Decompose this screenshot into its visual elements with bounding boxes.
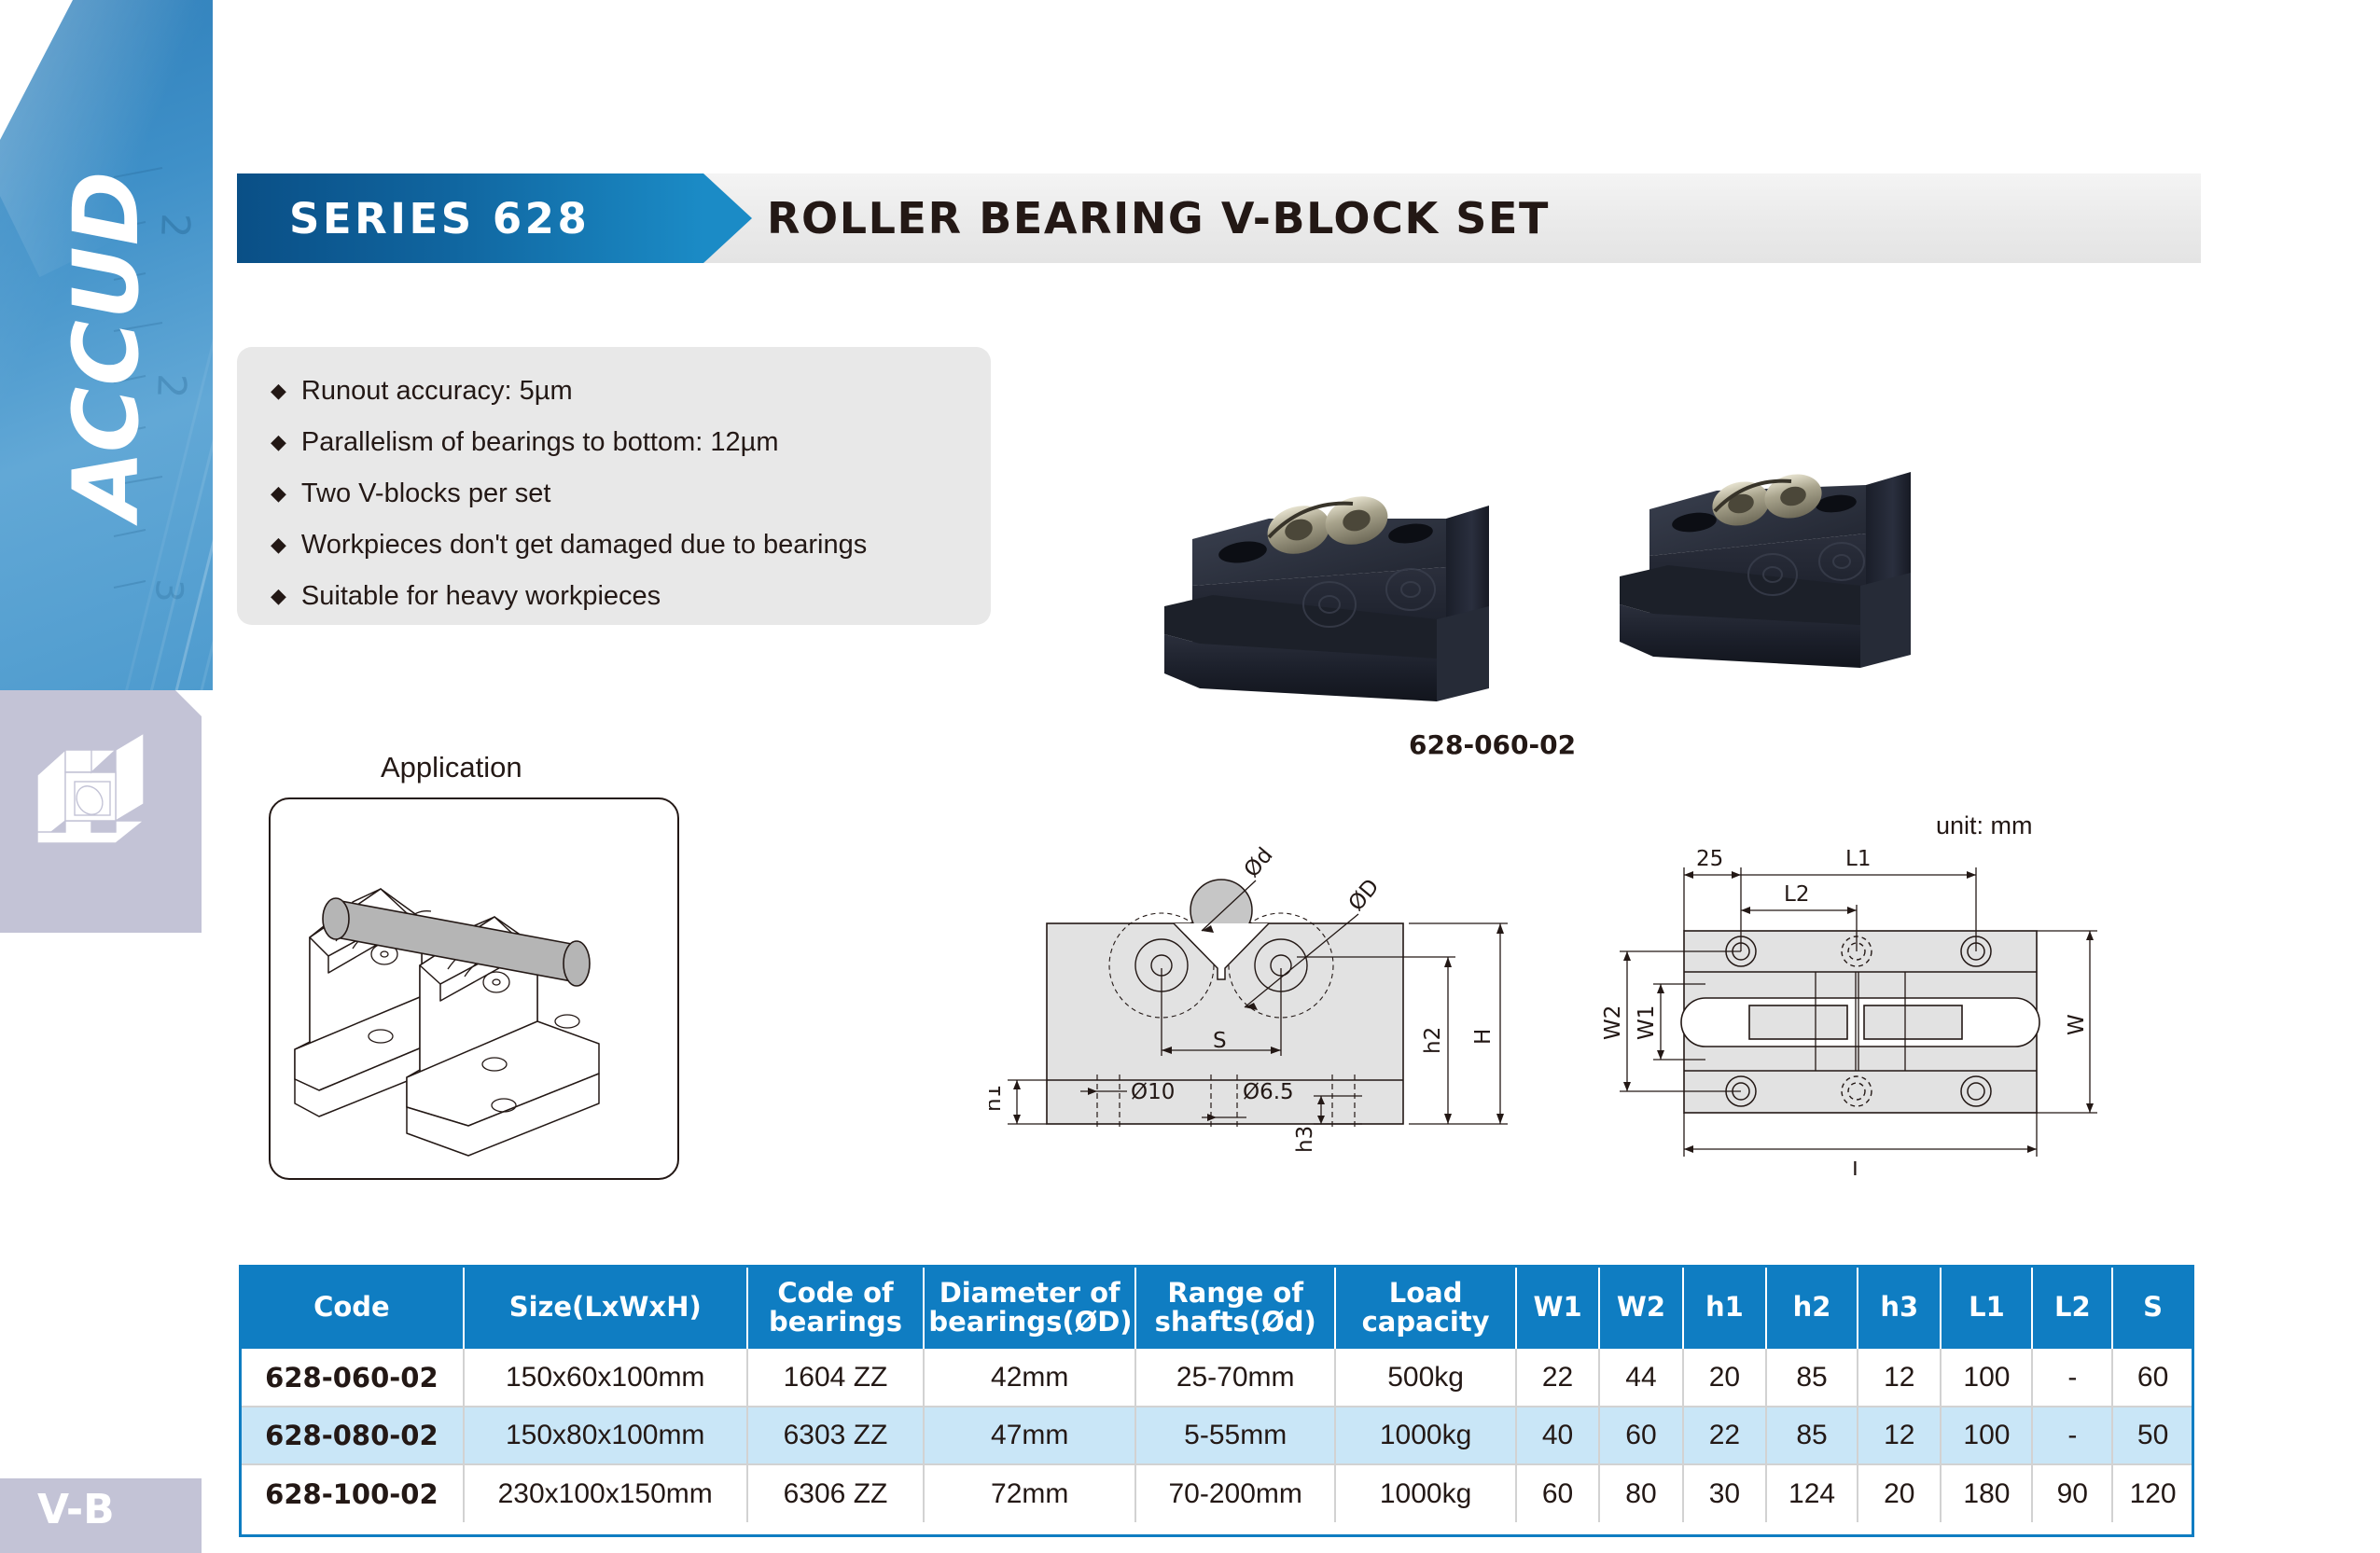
sidebar-category-panel [0, 690, 202, 933]
col-header-h2: h2 [1766, 1267, 1858, 1349]
svg-text:Ø6.5: Ø6.5 [1243, 1080, 1294, 1104]
cell-code: 628-060-02 [241, 1349, 464, 1407]
cell-s: 120 [2112, 1464, 2192, 1522]
svg-text:S: S [1213, 1029, 1227, 1053]
cell-s: 60 [2112, 1349, 2192, 1407]
page-title: ROLLER BEARING V-BLOCK SET [767, 173, 1550, 263]
cell-bearing-code: 6303 ZZ [747, 1407, 925, 1464]
application-illustration-box [269, 797, 679, 1180]
cell-bearing-diameter: 72mm [924, 1464, 1135, 1522]
sidebar-footer-label: V-B [37, 1486, 115, 1533]
col-header-h1: h1 [1683, 1267, 1766, 1349]
feature-item: ◆ Runout accuracy: 5µm [271, 375, 991, 407]
svg-text:H: H [1471, 1029, 1496, 1045]
feature-item: ◆ Two V-blocks per set [271, 478, 991, 509]
product-photo-illustration [1157, 336, 2202, 728]
cell-w1: 22 [1516, 1349, 1599, 1407]
cell-l2: - [2032, 1407, 2112, 1464]
cell-shaft-range: 5-55mm [1135, 1407, 1335, 1464]
col-header-code: Code [241, 1267, 464, 1349]
svg-text:L1: L1 [1845, 847, 1871, 871]
cell-l1: 100 [1941, 1349, 2032, 1407]
feature-item: ◆ Parallelism of bearings to bottom: 12µ… [271, 426, 991, 458]
col-header-w1: W1 [1516, 1267, 1599, 1349]
diamond-bullet-icon: ◆ [271, 426, 286, 458]
cell-w1: 60 [1516, 1464, 1599, 1522]
front-view-drawing: S H h2 h1 h3 Ø10 Ø6.5 Ød ØD [989, 821, 1567, 1194]
feature-text: Suitable for heavy workpieces [301, 580, 661, 612]
series-badge: SERIES 628 [237, 173, 703, 263]
svg-text:h1: h1 [989, 1085, 1006, 1112]
diamond-bullet-icon: ◆ [271, 529, 286, 561]
cell-s: 50 [2112, 1407, 2192, 1464]
col-header-s: S [2112, 1267, 2192, 1349]
cell-load-capacity: 500kg [1335, 1349, 1516, 1407]
unit-note: unit: mm [1936, 811, 2033, 840]
cell-l1: 180 [1941, 1464, 2032, 1522]
svg-text:L2: L2 [1784, 882, 1809, 907]
brand-name: ACCUD [54, 171, 159, 520]
cell-load-capacity: 1000kg [1335, 1464, 1516, 1522]
cell-code: 628-080-02 [241, 1407, 464, 1464]
cell-bearing-code: 6306 ZZ [747, 1464, 925, 1522]
cell-h3: 20 [1858, 1464, 1941, 1522]
table-row: 628-080-02 150x80x100mm 6303 ZZ 47mm 5-5… [241, 1407, 2192, 1464]
cell-code: 628-100-02 [241, 1464, 464, 1522]
cell-h1: 22 [1683, 1407, 1766, 1464]
svg-text:W: W [2065, 1014, 2089, 1035]
cell-load-capacity: 1000kg [1335, 1407, 1516, 1464]
col-header-shaft-range: Range of shafts(Ød) [1135, 1267, 1335, 1349]
feature-text: Workpieces don't get damaged due to bear… [301, 529, 867, 561]
col-header-load-capacity: Load capacity [1335, 1267, 1516, 1349]
specifications-table: Code Size(LxWxH) Code of bearings Diamet… [241, 1267, 2192, 1522]
cell-shaft-range: 70-200mm [1135, 1464, 1335, 1522]
feature-text: Runout accuracy: 5µm [301, 375, 573, 407]
cell-bearing-diameter: 47mm [924, 1407, 1135, 1464]
cell-size: 230x100x150mm [464, 1464, 747, 1522]
cell-w2: 44 [1599, 1349, 1682, 1407]
svg-text:Ød: Ød [1240, 843, 1278, 882]
diamond-bullet-icon: ◆ [271, 478, 286, 509]
feature-text: Two V-blocks per set [301, 478, 551, 509]
left-sidebar: 2 2 3 ACCUD V-B [0, 0, 213, 1553]
diamond-bullet-icon: ◆ [271, 580, 286, 612]
col-header-w2: W2 [1599, 1267, 1682, 1349]
page-header: SERIES 628 ROLLER BEARING V-BLOCK SET [237, 173, 2201, 263]
table-header-row: Code Size(LxWxH) Code of bearings Diamet… [241, 1267, 2192, 1349]
svg-text:25: 25 [1696, 847, 1723, 871]
svg-text:h2: h2 [1421, 1027, 1445, 1054]
svg-text:ØD: ØD [1344, 875, 1385, 916]
cell-h3: 12 [1858, 1349, 1941, 1407]
product-photo-caption: 628-060-02 [1409, 729, 1576, 760]
feature-text: Parallelism of bearings to bottom: 12µm [301, 426, 779, 458]
cell-h2: 85 [1766, 1349, 1858, 1407]
application-illustration [271, 799, 677, 1178]
diamond-bullet-icon: ◆ [271, 375, 286, 407]
feature-item: ◆ Workpieces don't get damaged due to be… [271, 529, 991, 561]
col-header-l2: L2 [2032, 1267, 2112, 1349]
cell-h2: 124 [1766, 1464, 1858, 1522]
application-label: Application [381, 751, 522, 784]
svg-text:W2: W2 [1601, 1005, 1625, 1040]
v-block-icon [26, 724, 166, 864]
table-row: 628-060-02 150x60x100mm 1604 ZZ 42mm 25-… [241, 1349, 2192, 1407]
feature-item: ◆ Suitable for heavy workpieces [271, 580, 991, 612]
cell-bearing-code: 1604 ZZ [747, 1349, 925, 1407]
col-header-bearing-code: Code of bearings [747, 1267, 925, 1349]
cell-bearing-diameter: 42mm [924, 1349, 1135, 1407]
col-header-l1: L1 [1941, 1267, 2032, 1349]
cell-h2: 85 [1766, 1407, 1858, 1464]
cell-shaft-range: 25-70mm [1135, 1349, 1335, 1407]
cell-l1: 100 [1941, 1407, 2032, 1464]
svg-text:L: L [1852, 1158, 1864, 1175]
cell-size: 150x60x100mm [464, 1349, 747, 1407]
cell-w1: 40 [1516, 1407, 1599, 1464]
cell-l2: - [2032, 1349, 2112, 1407]
cell-w2: 80 [1599, 1464, 1682, 1522]
cell-h3: 12 [1858, 1407, 1941, 1464]
col-header-h3: h3 [1858, 1267, 1941, 1349]
sidebar-corner-cut [0, 0, 73, 140]
features-panel: ◆ Runout accuracy: 5µm ◆ Parallelism of … [237, 347, 991, 625]
cell-h1: 20 [1683, 1349, 1766, 1407]
svg-text:W1: W1 [1635, 1005, 1659, 1040]
table-row: 628-100-02 230x100x150mm 6306 ZZ 72mm 70… [241, 1464, 2192, 1522]
top-view-drawing: 25 L1 L2 W L W2 W1 [1586, 839, 2146, 1175]
col-header-bearing-diameter: Diameter of bearings(ØD) [924, 1267, 1135, 1349]
sidebar-caliper-photo: 2 2 3 ACCUD [0, 0, 213, 690]
cell-l2: 90 [2032, 1464, 2112, 1522]
product-photo [1157, 336, 2202, 728]
cell-w2: 60 [1599, 1407, 1682, 1464]
cell-h1: 30 [1683, 1464, 1766, 1522]
sidebar-footer-panel: V-B [0, 1478, 202, 1553]
series-label: SERIES 628 [289, 194, 590, 243]
cell-size: 150x80x100mm [464, 1407, 747, 1464]
svg-text:Ø10: Ø10 [1131, 1080, 1175, 1104]
col-header-size: Size(LxWxH) [464, 1267, 747, 1349]
series-badge-arrow [703, 173, 752, 263]
svg-text:h3: h3 [1293, 1126, 1317, 1153]
